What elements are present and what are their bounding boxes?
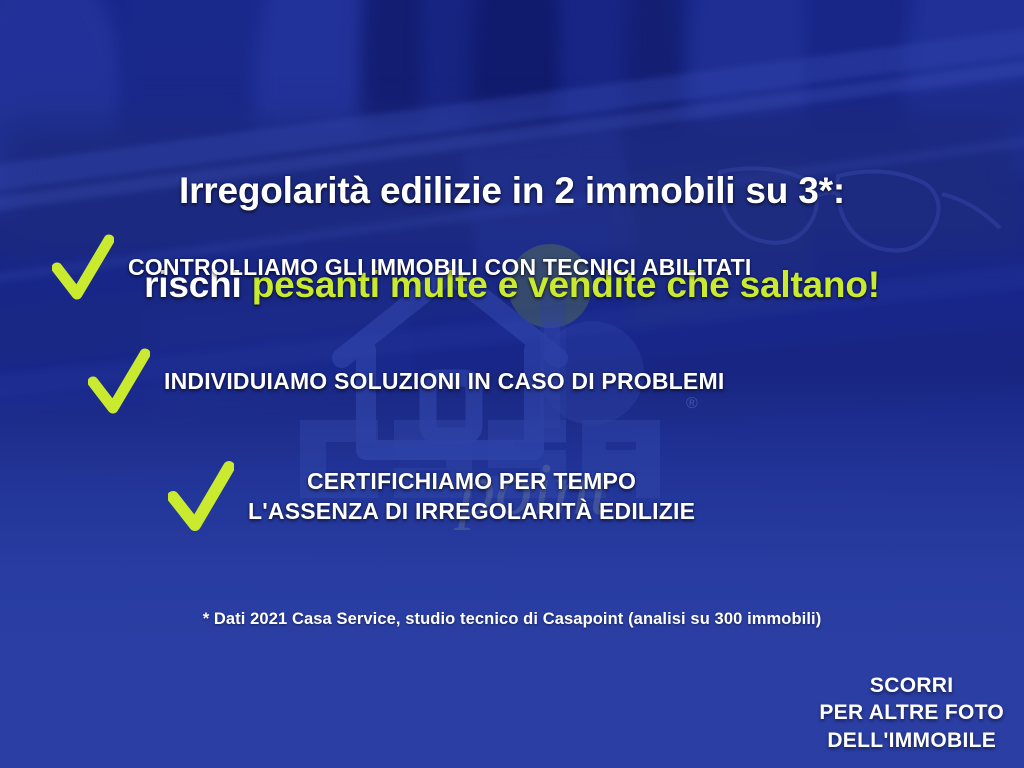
swipe-line-3: DELL'IMMOBILE [819, 727, 1004, 754]
headline-line-1: Irregolarità edilizie in 2 immobili su 3… [179, 170, 845, 211]
check-icon [168, 458, 234, 536]
swipe-line-1: SCORRI [819, 672, 1004, 699]
check-icon [52, 232, 114, 304]
check-icon [88, 346, 150, 418]
swipe-line-2: PER ALTRE FOTO [819, 699, 1004, 726]
promotional-poster: ® point Irregolarità edilizie in 2 immob… [0, 0, 1024, 768]
list-item: INDIVIDUIAMO SOLUZIONI IN CASO DI PROBLE… [0, 346, 1024, 418]
list-item: CERTIFICHIAMO PER TEMPO L'ASSENZA DI IRR… [0, 458, 1024, 536]
list-item-label: CERTIFICHIAMO PER TEMPO L'ASSENZA DI IRR… [248, 467, 695, 527]
poster-content: Irregolarità edilizie in 2 immobili su 3… [0, 0, 1024, 768]
list-item: CONTROLLIAMO GLI IMMOBILI CON TECNICI AB… [0, 232, 1024, 304]
list-item-label: CONTROLLIAMO GLI IMMOBILI CON TECNICI AB… [128, 253, 752, 283]
footnote-text: * Dati 2021 Casa Service, studio tecnico… [0, 610, 1024, 629]
list-item-label: INDIVIDUIAMO SOLUZIONI IN CASO DI PROBLE… [164, 367, 724, 397]
swipe-callout: SCORRI PER ALTRE FOTO DELL'IMMOBILE [819, 672, 1004, 754]
benefit-list: CONTROLLIAMO GLI IMMOBILI CON TECNICI AB… [0, 232, 1024, 536]
